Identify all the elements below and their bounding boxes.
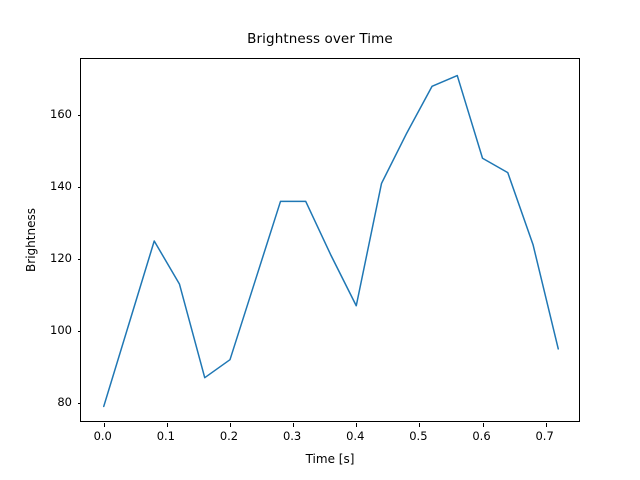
- x-axis-tick-mark: [483, 423, 484, 427]
- x-axis-tick-mark: [230, 423, 231, 427]
- chart-figure: Brightness over Time 80100120140160 0.00…: [0, 0, 640, 480]
- y-axis-tick-mark: [78, 115, 82, 116]
- y-axis-tick-mark: [78, 259, 82, 260]
- x-axis-tick-label: 0.5: [409, 429, 427, 443]
- x-axis-tick-mark: [167, 423, 168, 427]
- line-plot-svg: [81, 59, 581, 423]
- x-axis-tick-label: 0.1: [157, 429, 175, 443]
- y-axis-tick-mark: [78, 403, 82, 404]
- x-axis-tick-mark: [356, 423, 357, 427]
- y-axis-tick-mark: [78, 187, 82, 188]
- x-axis-tick-label: 0.6: [472, 429, 490, 443]
- x-axis-tick-label: 0.0: [94, 429, 112, 443]
- x-axis-tick-label: 0.2: [220, 429, 238, 443]
- series-line-brightness: [104, 76, 559, 407]
- chart-title: Brightness over Time: [0, 31, 640, 47]
- x-axis-label: Time [s]: [80, 452, 580, 466]
- x-axis-tick-mark: [104, 423, 105, 427]
- x-axis-tick-mark: [419, 423, 420, 427]
- x-axis-tick-mark: [293, 423, 294, 427]
- y-axis-label: Brightness: [24, 58, 38, 422]
- x-axis-tick-label: 0.4: [346, 429, 364, 443]
- x-axis-tick-mark: [546, 423, 547, 427]
- x-axis-tick-label: 0.7: [535, 429, 553, 443]
- plot-axes: [80, 58, 580, 422]
- y-axis-tick-mark: [78, 331, 82, 332]
- x-axis-tick-label: 0.3: [283, 429, 301, 443]
